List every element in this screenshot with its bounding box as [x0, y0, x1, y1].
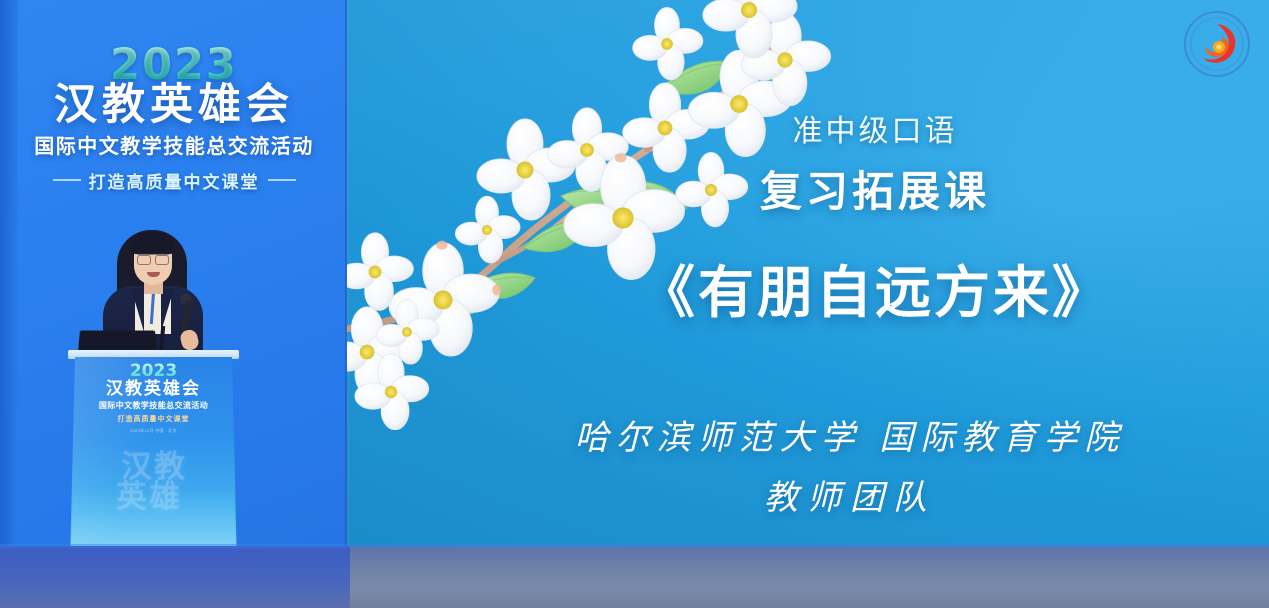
- event-logo-tagline: 打造高质量中文课堂: [89, 168, 260, 193]
- presenter-hair-front: [131, 232, 175, 254]
- event-logo-title: 汉教英雄会: [14, 83, 334, 129]
- stage-floor-edge: [0, 544, 1269, 550]
- slide-team-label: 教师团队: [560, 470, 1140, 519]
- tagline-rule-right: [268, 179, 296, 181]
- slide-course-type: 复习拓展课: [690, 158, 1060, 219]
- podium-laptop: [78, 331, 157, 353]
- tagline-rule-left: [53, 179, 81, 181]
- stage-floor-left-section: [0, 546, 350, 608]
- podium-logo: 2023 汉教英雄会 国际中文教学技能总交流活动 打造高质量中文课堂 2023年…: [72, 363, 235, 434]
- event-logo-tagline-row: 打造高质量中文课堂: [14, 168, 334, 193]
- podium-logo-title: 汉教英雄会: [72, 380, 235, 399]
- podium-fine-print: 2023年12月 中国 · 北京: [72, 428, 235, 434]
- event-logo: 2023 汉教英雄会 国际中文教学技能总交流活动 打造高质量中文课堂: [14, 44, 334, 193]
- podium-logo-tagline: 打造高质量中文课堂: [72, 414, 235, 424]
- stage-scene: 2023 汉教英雄会 国际中文教学技能总交流活动 打造高质量中文课堂 准中级口语…: [0, 0, 1269, 608]
- presenter-lapel-left: [131, 288, 144, 332]
- slide-level-label: 准中级口语: [705, 106, 1045, 150]
- slide-lesson-title: 《有朋自远方来》: [620, 248, 1130, 329]
- podium-logo-subtitle: 国际中文教学技能总交流活动: [72, 400, 235, 411]
- foundation-emblem-icon: [1181, 8, 1253, 80]
- slide-organization: 哈尔滨师范大学 国际教育学院: [560, 410, 1140, 459]
- event-logo-subtitle: 国际中文教学技能总交流活动: [14, 130, 334, 159]
- eyeglasses-icon: [137, 253, 169, 261]
- podium-logo-year: 2023: [72, 363, 235, 380]
